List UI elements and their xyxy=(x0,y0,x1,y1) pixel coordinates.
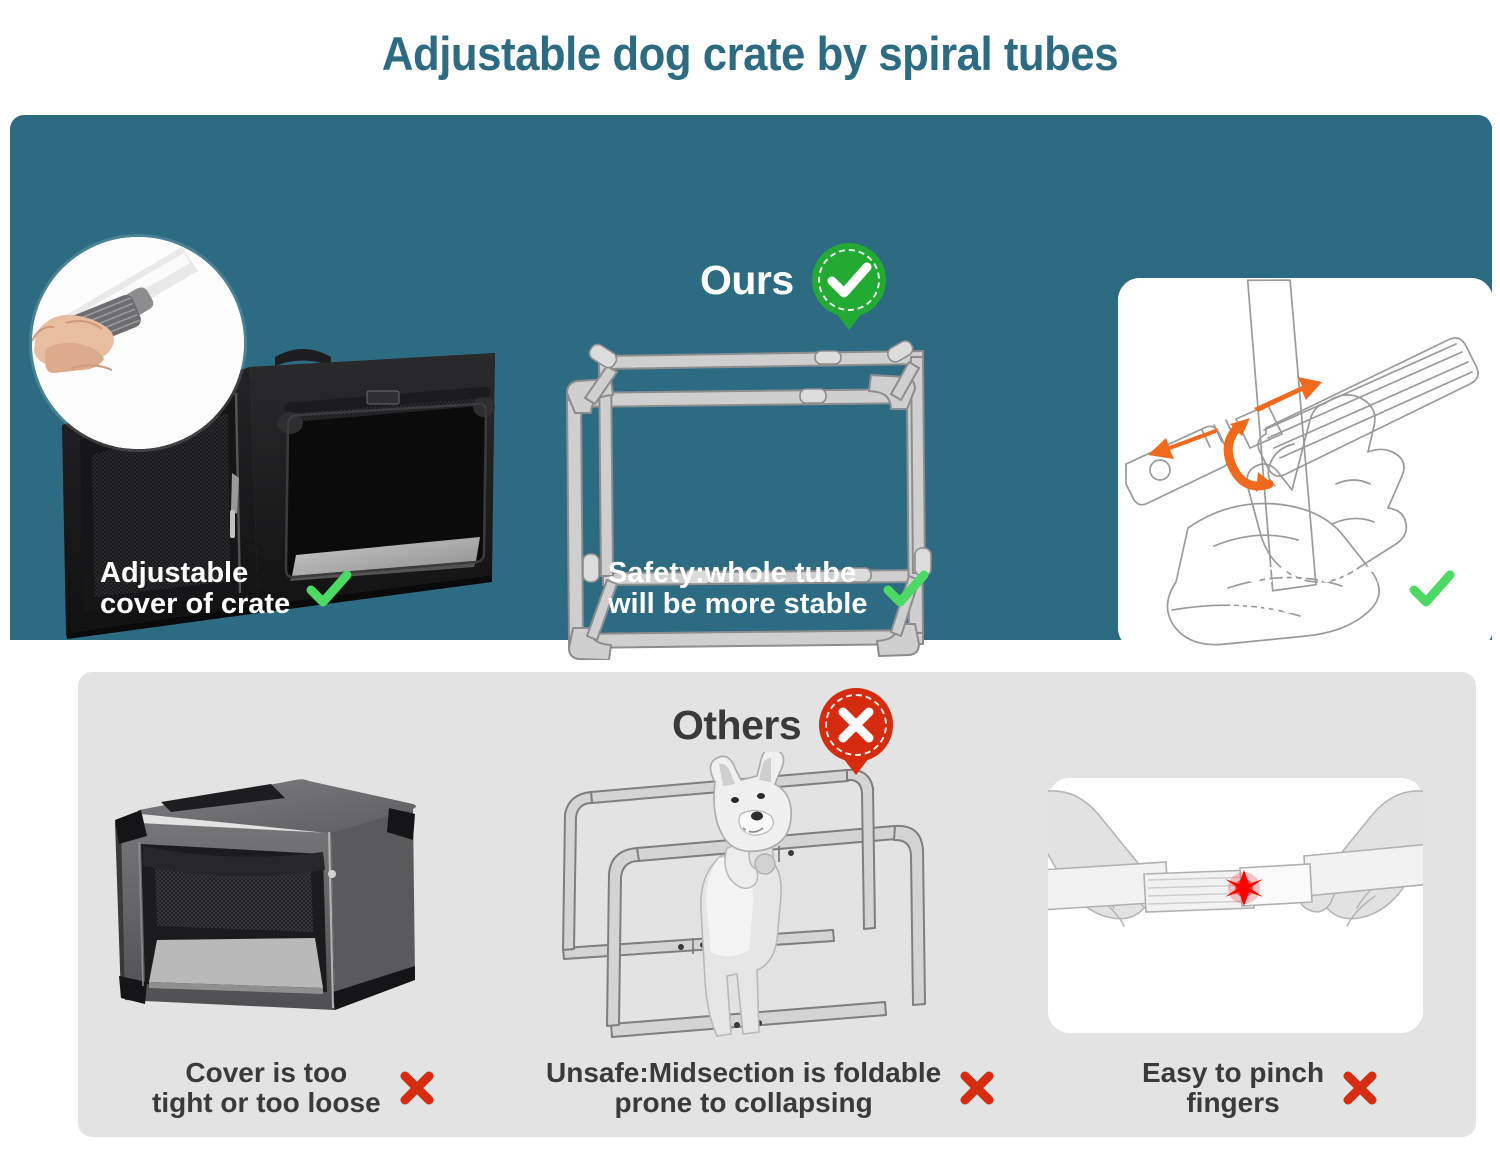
ours-caption-1-text: Adjustable cover of crate xyxy=(100,558,290,619)
gray-loose-crate-photo xyxy=(95,762,440,1027)
cross-icon xyxy=(1340,1068,1380,1108)
others-caption-1-text: Cover is too tight or too loose xyxy=(152,1058,381,1117)
page-title: Adjustable dog crate by spiral tubes xyxy=(53,26,1448,81)
others-caption-1: Cover is too tight or too loose xyxy=(152,1058,437,1117)
ours-caption-1: Adjustable cover of crate xyxy=(100,558,352,619)
infographic-page: Adjustable dog crate by spiral tubes xyxy=(0,0,1500,1157)
check-badge-icon xyxy=(812,243,886,317)
ours-caption-3-text: Safe not to pinch fingers xyxy=(1158,558,1393,619)
check-icon xyxy=(1409,569,1455,609)
others-caption-3: Easy to pinch fingers xyxy=(1142,1058,1380,1117)
others-heading-label: Others xyxy=(672,702,801,749)
others-caption-3-text: Easy to pinch fingers xyxy=(1142,1058,1324,1117)
foldable-frame-with-dog-diagram xyxy=(545,752,955,1042)
hand-holding-spiral-tube-photo xyxy=(32,237,244,449)
others-caption-2-text: Unsafe:Midsection is foldable prone to c… xyxy=(546,1058,941,1117)
ours-heading-label: Ours xyxy=(700,257,794,304)
hands-pinching-tube-lineart xyxy=(1048,778,1423,1033)
check-icon xyxy=(306,569,352,609)
others-caption-2: Unsafe:Midsection is foldable prone to c… xyxy=(546,1058,997,1117)
cross-badge-icon xyxy=(819,688,893,762)
others-heading-group: Others xyxy=(672,688,893,762)
ours-heading-group: Ours xyxy=(700,243,886,317)
ours-caption-3: Safe not to pinch fingers xyxy=(1158,558,1455,619)
cross-icon xyxy=(957,1068,997,1108)
ours-caption-2-text: Safety:whole tube will be more stable xyxy=(608,558,867,619)
cross-icon xyxy=(397,1068,437,1108)
check-icon xyxy=(883,569,929,609)
ours-caption-2: Safety:whole tube will be more stable xyxy=(608,558,929,619)
